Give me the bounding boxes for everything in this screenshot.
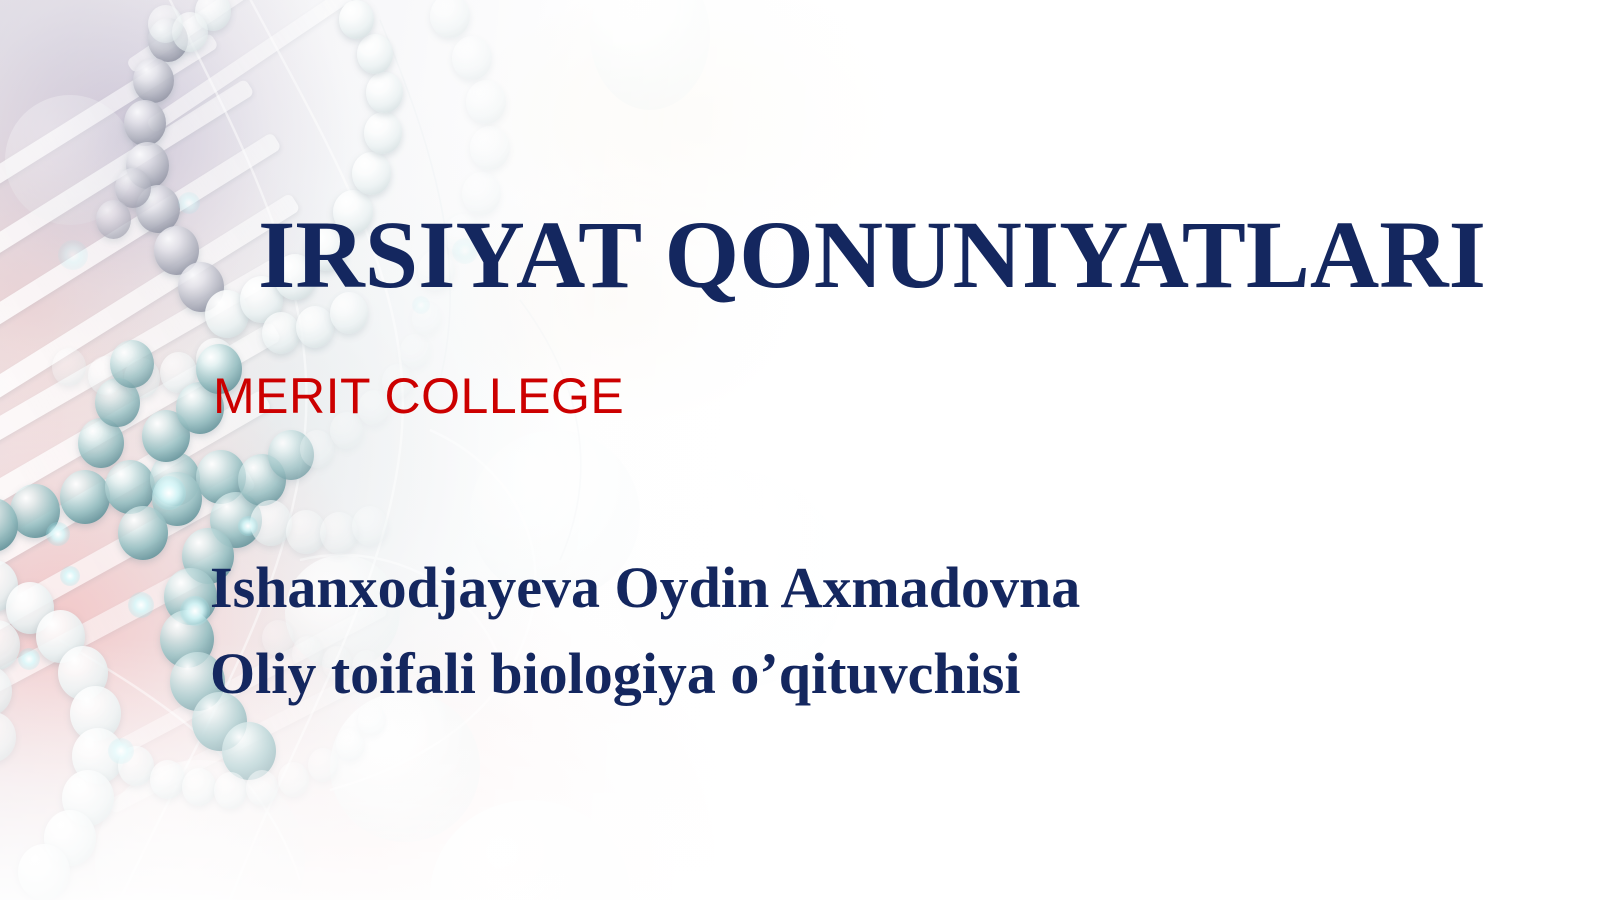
slide-content: IRSIYAT QONUNIYATLARI MERIT COLLEGE Isha… xyxy=(0,0,1600,900)
presenter-role: Oliy toifali biologiya o’qituvchisi xyxy=(210,631,1080,717)
presenter-name: Ishanxodjayeva Oydin Axmadovna xyxy=(210,545,1080,631)
presenter-block: Ishanxodjayeva Oydin Axmadovna Oliy toif… xyxy=(210,545,1080,717)
organization-name: MERIT COLLEGE xyxy=(213,371,624,421)
slide-title: IRSIYAT QONUNIYATLARI xyxy=(258,207,1486,303)
title-slide: IRSIYAT QONUNIYATLARI MERIT COLLEGE Isha… xyxy=(0,0,1600,900)
